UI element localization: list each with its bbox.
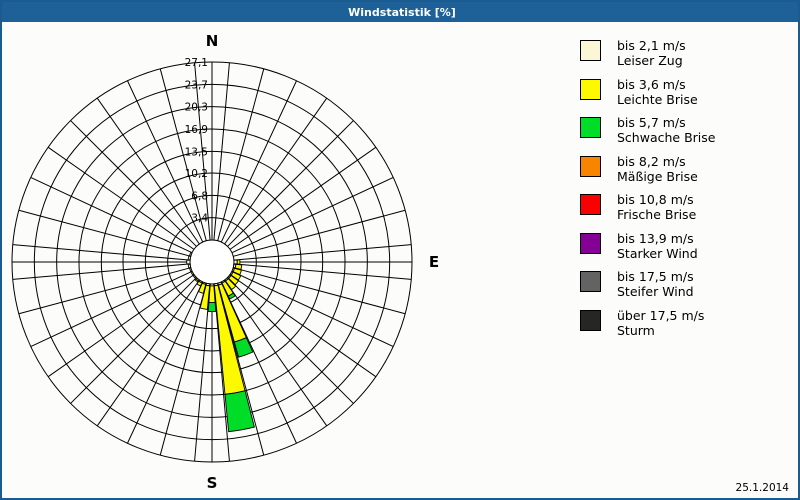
legend-name-label: Starker Wind (617, 246, 698, 261)
legend-color-swatch (580, 117, 601, 138)
legend-name-label: Leiser Zug (617, 53, 686, 68)
compass-label-east: E (429, 253, 439, 271)
legend-label: bis 5,7 m/sSchwache Brise (617, 115, 715, 145)
legend-label: bis 2,1 m/sLeiser Zug (617, 38, 686, 68)
window-title-bar: Windstatistik [%] (2, 2, 800, 22)
grid-spoke (71, 121, 197, 247)
legend-color-swatch (580, 310, 601, 331)
grid-spoke (19, 210, 191, 256)
legend-color-swatch (580, 271, 601, 292)
legend-speed-label: bis 13,9 m/s (617, 231, 698, 246)
legend-item[interactable]: bis 8,2 m/sMäßige Brise (580, 154, 795, 184)
legend-label: bis 17,5 m/sSteifer Wind (617, 269, 694, 299)
legend-speed-label: bis 10,8 m/s (617, 192, 696, 207)
windstatistik-window: Windstatistik [%] 3,46,810,213,516,920,3… (0, 0, 800, 500)
radial-tick-label: 20,3 (185, 102, 208, 114)
wind-sector-segment (187, 260, 190, 264)
wind-sector-segment (237, 260, 240, 264)
legend-color-swatch (580, 194, 601, 215)
wind-rose-plot: 3,46,810,213,516,920,323,727,1NSEW (2, 22, 568, 500)
legend-speed-label: bis 17,5 m/s (617, 269, 694, 284)
wind-sector-segment (208, 302, 216, 311)
grid-spoke (232, 177, 393, 252)
legend-item[interactable]: bis 10,8 m/sFrische Brise (580, 192, 795, 222)
grid-spoke (31, 271, 192, 346)
legend-name-label: Leichte Brise (617, 92, 698, 107)
legend-speed-label: bis 8,2 m/s (617, 154, 698, 169)
grid-spoke (233, 268, 405, 314)
legend-label: bis 3,6 m/sLeichte Brise (617, 77, 698, 107)
legend-item[interactable]: bis 5,7 m/sSchwache Brise (580, 115, 795, 145)
grid-spoke (127, 282, 202, 443)
radial-tick-label: 13,5 (185, 146, 208, 158)
legend-item[interactable]: bis 13,9 m/sStarker Wind (580, 231, 795, 261)
legend-label: über 17,5 m/sSturm (617, 308, 704, 338)
wind-sector-segment (225, 391, 254, 432)
legend-name-label: Mäßige Brise (617, 169, 698, 184)
legend-label: bis 8,2 m/sMäßige Brise (617, 154, 698, 184)
legend-speed-label: bis 2,1 m/s (617, 38, 686, 53)
legend-speed-label: bis 3,6 m/s (617, 77, 698, 92)
legend-label: bis 13,9 m/sStarker Wind (617, 231, 698, 261)
date-stamp: 25.1.2014 (736, 482, 789, 494)
legend-name-label: Frische Brise (617, 207, 696, 222)
legend-color-swatch (580, 79, 601, 100)
grid-spoke (19, 268, 191, 314)
wind-sector-segment (188, 264, 191, 268)
legend-speed-label: bis 5,7 m/s (617, 115, 715, 130)
grid-spoke (221, 81, 296, 242)
grid-spoke (218, 69, 264, 241)
window-title: Windstatistik [%] (348, 6, 456, 19)
grid-spoke (31, 177, 192, 252)
radial-tick-label: 16,9 (185, 124, 208, 136)
legend-color-swatch (580, 156, 601, 177)
wind-sector-segment (188, 256, 191, 260)
legend-label: bis 10,8 m/sFrische Brise (617, 192, 696, 222)
grid-spoke (233, 210, 405, 256)
legend-color-swatch (580, 233, 601, 254)
legend: bis 2,1 m/sLeiser Zugbis 3,6 m/sLeichte … (580, 38, 795, 346)
wind-rose-svg: 3,46,810,213,516,920,323,727,1NSEW (2, 22, 568, 500)
radial-tick-label: 27,1 (185, 57, 208, 69)
legend-item[interactable]: bis 3,6 m/sLeichte Brise (580, 77, 795, 107)
compass-label-north: N (206, 32, 219, 50)
polar-grid (12, 62, 412, 462)
radial-tick-label: 3,4 (191, 213, 208, 225)
grid-spoke (71, 278, 197, 404)
wind-sector-segment (234, 260, 237, 264)
legend-speed-label: über 17,5 m/s (617, 308, 704, 323)
legend-name-label: Sturm (617, 323, 704, 338)
legend-item[interactable]: bis 17,5 m/sSteifer Wind (580, 269, 795, 299)
grid-spoke (232, 271, 393, 346)
grid-spoke (228, 121, 354, 247)
grid-spoke (160, 283, 206, 455)
legend-item[interactable]: bis 2,1 m/sLeiser Zug (580, 38, 795, 68)
compass-label-south: S (207, 474, 218, 492)
radial-tick-label: 23,7 (185, 79, 208, 91)
radial-tick-label: 10,2 (185, 168, 208, 180)
legend-name-label: Steifer Wind (617, 284, 694, 299)
radial-tick-label: 6,8 (191, 190, 208, 202)
legend-item[interactable]: über 17,5 m/sSturm (580, 308, 795, 338)
legend-name-label: Schwache Brise (617, 130, 715, 145)
legend-color-swatch (580, 40, 601, 61)
